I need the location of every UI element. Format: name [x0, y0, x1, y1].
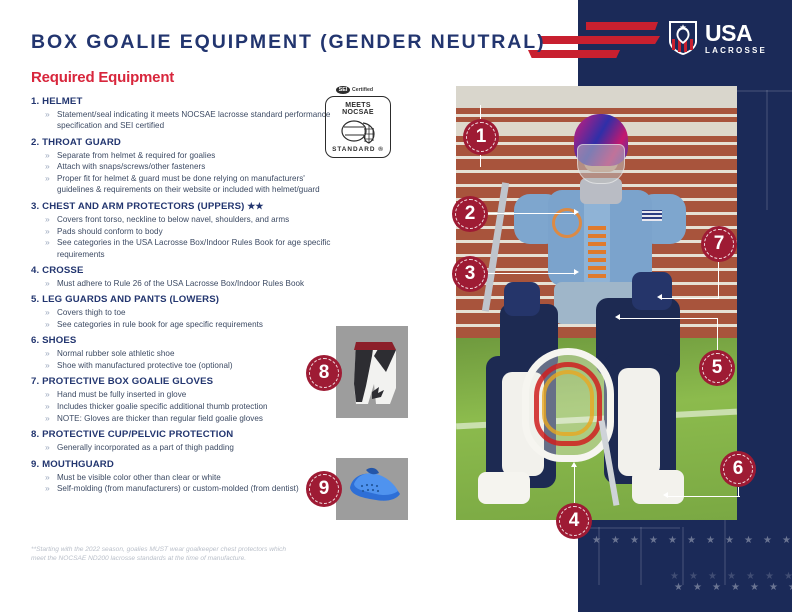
equipment-item-goalie-gloves: 7. PROTECTIVE BOX GOALIE GLOVES Hand mus… — [31, 376, 331, 424]
list-item: Generally incorporated as a part of thig… — [31, 442, 331, 453]
leader-line-2 — [488, 213, 576, 214]
star-icon: ★ — [611, 536, 620, 545]
star-icon: ★ — [765, 572, 774, 581]
list-item: Covers front torso, neckline to below na… — [31, 214, 331, 225]
photo-sky — [456, 86, 737, 108]
star-icon: ★ — [674, 583, 683, 592]
star-icon: ★ — [649, 536, 658, 545]
list-item: Includes thicker goalie specific additio… — [31, 401, 331, 412]
list-item: Covers thigh to toe — [31, 307, 331, 318]
arrow-5 — [615, 314, 620, 320]
star-icon: ★ — [630, 536, 639, 545]
star-icon: ★ — [731, 583, 740, 592]
item-bullets: Covers front torso, neckline to below na… — [31, 214, 331, 260]
callout-5-leg-guards-pants[interactable]: 5 — [699, 350, 735, 386]
item-heading: 2. THROAT GUARD — [31, 137, 331, 148]
list-item: Statement/seal indicating it meets NOCSA… — [31, 109, 331, 132]
decorative-star-row: ★ ★ ★ ★ ★ ★ ★ ★ ★ ★ ★ — [592, 536, 792, 545]
item-bullets: Separate from helmet & required for goal… — [31, 150, 331, 196]
star-icon: ★ — [712, 583, 721, 592]
logo-wordmark: USA LACROSSE — [705, 22, 767, 55]
star-icon: ★ — [592, 536, 601, 545]
callout-4-crosse[interactable]: 4 — [556, 503, 592, 539]
logo-usa-text: USA — [705, 22, 767, 45]
item-bullets: Hand must be fully inserted in glove Inc… — [31, 389, 331, 424]
nocsae-line-meets: MEETS — [326, 102, 390, 109]
leader-line-4 — [574, 465, 575, 503]
list-item: See categories in the USA Lacrosse Box/I… — [31, 237, 331, 260]
goalie-shoe-left — [478, 472, 530, 504]
list-item: Self-molding (from manufacturers) or cus… — [31, 483, 331, 494]
leader-line-3 — [488, 273, 576, 274]
page-title: BOX GOALIE EQUIPMENT (GENDER NEUTRAL) — [31, 31, 545, 54]
list-item: Shoe with manufactured protective toe (o… — [31, 360, 331, 371]
list-item: Separate from helmet & required for goal… — [31, 150, 331, 161]
leader-line-1 — [480, 105, 481, 119]
callout-3-chest-arm-protectors[interactable]: 3 — [452, 256, 488, 292]
list-item: Must be visible color other than clear o… — [31, 472, 331, 483]
star-icon: ★ — [727, 572, 736, 581]
decorative-line — [578, 527, 680, 529]
arrow-7 — [657, 294, 662, 300]
goalie-glove-left — [504, 282, 540, 316]
star-icon: ★ — [708, 572, 717, 581]
callout-2-throat-guard[interactable]: 2 — [452, 196, 488, 232]
sei-logo-icon: SEI — [336, 86, 350, 94]
usa-lacrosse-shield-icon — [668, 20, 698, 56]
equipment-item-mouthguard: 9. MOUTHGUARD Must be visible color othe… — [31, 459, 331, 495]
callout-8-cup-pelvic[interactable]: 8 — [306, 355, 342, 391]
star-icon: ★ — [763, 536, 772, 545]
sei-certified-label: Certified — [352, 87, 373, 93]
item-bullets: Normal rubber sole athletic shoe Shoe wi… — [31, 348, 331, 371]
item-bullets: Statement/seal indicating it meets NOCSA… — [31, 109, 331, 132]
product-photo-pelvic-pants — [336, 326, 408, 418]
item-heading: 1. HELMET — [31, 96, 331, 107]
star-icon: ★ — [693, 583, 702, 592]
list-item: Must adhere to Rule 26 of the USA Lacros… — [31, 278, 331, 289]
star-icon: ★ — [744, 536, 753, 545]
infographic-page: ★ ★ ★ ★ ★ ★ ★ ★ ★ ★ ★ ★ ★ ★ ★ ★ ★ ★ ★ ★ … — [0, 0, 792, 612]
product-photo-mouthguard — [336, 458, 408, 520]
goalie-shin-pad-right — [618, 368, 660, 476]
section-subtitle: Required Equipment — [31, 69, 174, 86]
star-icon: ★ — [706, 536, 715, 545]
decorative-star-row: ★ ★ ★ ★ ★ ★ ★ ★ — [670, 572, 792, 581]
equipment-item-chest-arm-protectors: 3. CHEST AND ARM PROTECTORS (UPPERS) ★★ … — [31, 201, 331, 260]
list-item: Hand must be fully inserted in glove — [31, 389, 331, 400]
item-heading: 4. CROSSE — [31, 265, 331, 276]
swoosh-bar — [586, 22, 658, 30]
leader-line-7h — [662, 298, 719, 299]
star-icon: ★ — [670, 572, 679, 581]
leader-line-6v — [738, 487, 739, 497]
star-icon: ★ — [746, 572, 755, 581]
decorative-star-row: ★ ★ ★ ★ ★ ★ ★ ★ — [674, 583, 792, 592]
equipment-item-shoes: 6. SHOES Normal rubber sole athletic sho… — [31, 335, 331, 371]
arrow-4 — [571, 462, 577, 467]
equipment-list: 1. HELMET Statement/seal indicating it m… — [31, 96, 331, 496]
nocsae-line-nocsae: NOCSAE — [326, 109, 390, 116]
logo-lacrosse-text: LACROSSE — [705, 47, 767, 55]
usa-lacrosse-logo: USA LACROSSE — [668, 20, 767, 56]
item-bullets: Generally incorporated as a part of thig… — [31, 442, 331, 453]
list-item: Proper fit for helmet & guard must be do… — [31, 173, 331, 196]
callout-7-goalie-gloves[interactable]: 7 — [701, 226, 737, 262]
star-icon: ★ — [769, 583, 778, 592]
goalie-shoe-right — [632, 470, 684, 504]
goalie-glove-right — [632, 272, 672, 310]
compression-shorts-image — [336, 326, 408, 418]
equipment-item-cup-pelvic: 8. PROTECTIVE CUP/PELVIC PROTECTION Gene… — [31, 429, 331, 453]
list-item: See categories in rule book for age spec… — [31, 319, 331, 330]
item-heading: 5. LEG GUARDS AND PANTS (LOWERS) — [31, 294, 331, 305]
list-item: NOTE: Gloves are thicker than regular fi… — [31, 413, 331, 424]
item-bullets: Must adhere to Rule 26 of the USA Lacros… — [31, 278, 331, 289]
footnote-text: **Starting with the 2022 season, goalies… — [31, 545, 293, 563]
equipment-item-helmet: 1. HELMET Statement/seal indicating it m… — [31, 96, 331, 132]
equipment-item-leg-guards-pants: 5. LEG GUARDS AND PANTS (LOWERS) Covers … — [31, 294, 331, 330]
callout-9-mouthguard[interactable]: 9 — [306, 471, 342, 507]
decorative-line — [766, 90, 768, 210]
arrow-3 — [574, 269, 579, 275]
goalie-sternum-stripes — [588, 226, 606, 286]
leader-line-6h — [668, 496, 740, 497]
goalie-crosse-mesh-inner — [542, 370, 594, 436]
leader-line-1b — [480, 155, 481, 167]
list-item: Normal rubber sole athletic shoe — [31, 348, 331, 359]
list-item: Attach with snaps/screws/other fasteners — [31, 161, 331, 172]
item-heading: 7. PROTECTIVE BOX GOALIE GLOVES — [31, 376, 331, 387]
callout-6-shoes[interactable]: 6 — [720, 451, 756, 487]
list-item: Pads should conform to body — [31, 226, 331, 237]
goalie-photograph — [456, 86, 737, 520]
item-heading: 9. MOUTHGUARD — [31, 459, 331, 470]
swoosh-bar — [538, 36, 660, 44]
star-icon: ★ — [668, 536, 677, 545]
leader-line-5v — [717, 318, 718, 350]
leader-line-7v — [718, 262, 719, 298]
mouthguard-image — [336, 458, 408, 520]
item-heading: 8. PROTECTIVE CUP/PELVIC PROTECTION — [31, 429, 331, 440]
star-icon: ★ — [782, 536, 791, 545]
equipment-item-throat-guard: 2. THROAT GUARD Separate from helmet & r… — [31, 137, 331, 196]
lacrosse-helmet-icon — [340, 118, 378, 148]
star-icon: ★ — [750, 583, 759, 592]
goalie-flag-patch — [642, 210, 662, 221]
nocsae-certification-badge: SEI Certified MEETS NOCSAE STANDARD ® — [322, 86, 395, 160]
item-heading: 3. CHEST AND ARM PROTECTORS (UPPERS) ★★ — [31, 201, 331, 212]
goalie-helmet-cage — [577, 144, 625, 184]
star-icon: ★ — [788, 583, 792, 592]
leader-line-5h — [620, 318, 718, 319]
star-icon: ★ — [725, 536, 734, 545]
nocsae-standard-box: MEETS NOCSAE STANDARD ® — [325, 96, 391, 158]
item-bullets: Must be visible color other than clear o… — [31, 472, 331, 495]
item-bullets: Covers thigh to toe See categories in ru… — [31, 307, 331, 330]
sei-certified-mark: SEI Certified — [336, 86, 373, 94]
star-icon: ★ — [784, 572, 792, 581]
item-heading: 6. SHOES — [31, 335, 331, 346]
red-swoosh-graphic — [528, 18, 658, 70]
star-icon: ★ — [689, 572, 698, 581]
star-icon: ★ — [687, 536, 696, 545]
double-star-marker: ★★ — [247, 201, 263, 211]
arrow-2 — [574, 209, 579, 215]
arrow-6 — [663, 492, 668, 498]
callout-1-helmet[interactable]: 1 — [463, 119, 499, 155]
equipment-item-crosse: 4. CROSSE Must adhere to Rule 26 of the … — [31, 265, 331, 289]
nocsae-line-standard: STANDARD ® — [326, 146, 390, 153]
